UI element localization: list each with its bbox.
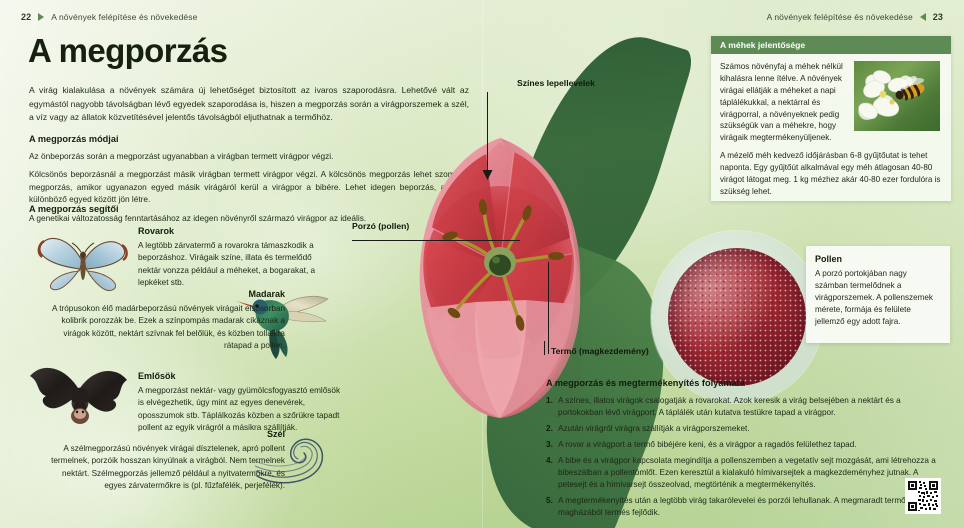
pollen-grain bbox=[668, 248, 806, 386]
pollinator-text-szel: A szélmegporzású növények virágai díszte… bbox=[38, 443, 285, 492]
process-step: A színes, illatos virágok csalogatják a … bbox=[546, 395, 946, 419]
pollen-box-heading: Pollen bbox=[815, 253, 941, 266]
page-gutter bbox=[482, 0, 483, 528]
header-left-title: A növények felépítése és növekedése bbox=[51, 12, 197, 22]
pollen-box-body: Pollen A porzó portokjában nagy számban … bbox=[806, 246, 950, 335]
triangle-right-icon bbox=[38, 13, 44, 21]
page-number-right: 23 bbox=[933, 12, 943, 22]
process-section: A megporzás és megtermékenyítés folyamat… bbox=[546, 377, 946, 523]
callout-lepellevelek: Színes lepellevelek bbox=[517, 78, 595, 88]
triangle-left-icon bbox=[920, 13, 926, 21]
section-segitoi: A megporzás segítői bbox=[29, 203, 229, 220]
process-heading: A megporzás és megtermékenyítés folyamat… bbox=[546, 377, 946, 391]
callout-porzo: Porzó (pollen) bbox=[352, 221, 409, 231]
pollinator-item-szel: Szél A szélmegporzású növények virágai d… bbox=[38, 428, 285, 492]
pollen-info-box: Pollen A porzó portokjában nagy számban … bbox=[806, 246, 950, 343]
pollinator-title-rovarok: Rovarok bbox=[138, 225, 333, 238]
process-step: Azután virágról virágra szállítják a vir… bbox=[546, 423, 946, 435]
header-right: A növények felépítése és növekedése 23 bbox=[767, 10, 943, 24]
bees-box-body: Számos növényfaj a méhek nélkül kihalásr… bbox=[711, 54, 951, 206]
bee-on-white-blossom-photo bbox=[854, 61, 940, 131]
pollinator-item-rovarok: Rovarok A legtöbb zárvatermő a rovarokra… bbox=[138, 225, 333, 289]
bees-box-heading: A méhek jelentősége bbox=[711, 36, 951, 54]
leader-line-porzo bbox=[352, 240, 520, 241]
pollinator-text-emlosok: A megporzást nektár- vagy gyümölcsfogyas… bbox=[138, 385, 343, 434]
pollinator-title-szel: Szél bbox=[38, 428, 285, 441]
pollinator-title-madarak: Madarak bbox=[40, 288, 285, 301]
lead-paragraph: A virág kialakulása a növények számára ú… bbox=[29, 84, 469, 125]
leader-line-termo-vertical bbox=[548, 262, 549, 354]
pollen-box-text: A porzó portokjában nagy számban termelő… bbox=[815, 268, 941, 327]
modjai-paragraph-1: Az önbeporzás során a megporzást ugyanab… bbox=[29, 150, 481, 162]
leader-arrow-lepellevelek bbox=[482, 170, 493, 180]
process-step: A rovar a virágport a termő bibéjére ken… bbox=[546, 439, 946, 451]
pollinator-item-madarak: Madarak A trópusokon élő madárbeporzású … bbox=[40, 288, 285, 352]
modjai-paragraph-2: Kölcsönös beporzásnál a megporzást másik… bbox=[29, 168, 481, 205]
leader-line-termo-tick bbox=[544, 341, 545, 355]
pollinator-text-rovarok: A legtöbb zárvatermő a rovarokra támaszk… bbox=[138, 240, 333, 289]
section-segitoi-heading: A megporzás segítői bbox=[29, 203, 229, 217]
bees-box-paragraph-2: A mézelő méh kedvező időjárásban 6-8 gyű… bbox=[720, 150, 942, 198]
qr-code-icon[interactable] bbox=[905, 478, 941, 514]
page-number-left: 22 bbox=[21, 12, 31, 22]
pollinator-text-madarak: A trópusokon élő madárbeporzású növények… bbox=[40, 303, 285, 352]
process-step: A megtermékenyítés után a legtöbb virág … bbox=[546, 495, 946, 519]
process-step: A bibe és a virágpor kapcsolata megindít… bbox=[546, 455, 946, 491]
leader-line-lepellevelek bbox=[487, 92, 488, 174]
process-step-list: A színes, illatos virágok csalogatják a … bbox=[546, 395, 946, 519]
bees-box-paragraph-1: Számos növényfaj a méhek nélkül kihalásr… bbox=[720, 61, 846, 144]
header-right-title: A növények felépítése és növekedése bbox=[767, 12, 913, 22]
bat-illustration bbox=[26, 358, 131, 436]
callout-termo: Termő (magkezdemény) bbox=[551, 346, 649, 356]
page-title: A megporzás bbox=[28, 34, 227, 67]
section-modjai-heading: A megporzás módjai bbox=[29, 133, 481, 147]
pollinator-item-emlosok: Emlősök A megporzást nektár- vagy gyümöl… bbox=[138, 370, 343, 434]
header-left: 22 A növények felépítése és növekedése bbox=[21, 10, 197, 24]
bees-importance-box: A méhek jelentősége Számos növényfaj a m… bbox=[711, 36, 951, 201]
pollinator-title-emlosok: Emlősök bbox=[138, 370, 343, 383]
